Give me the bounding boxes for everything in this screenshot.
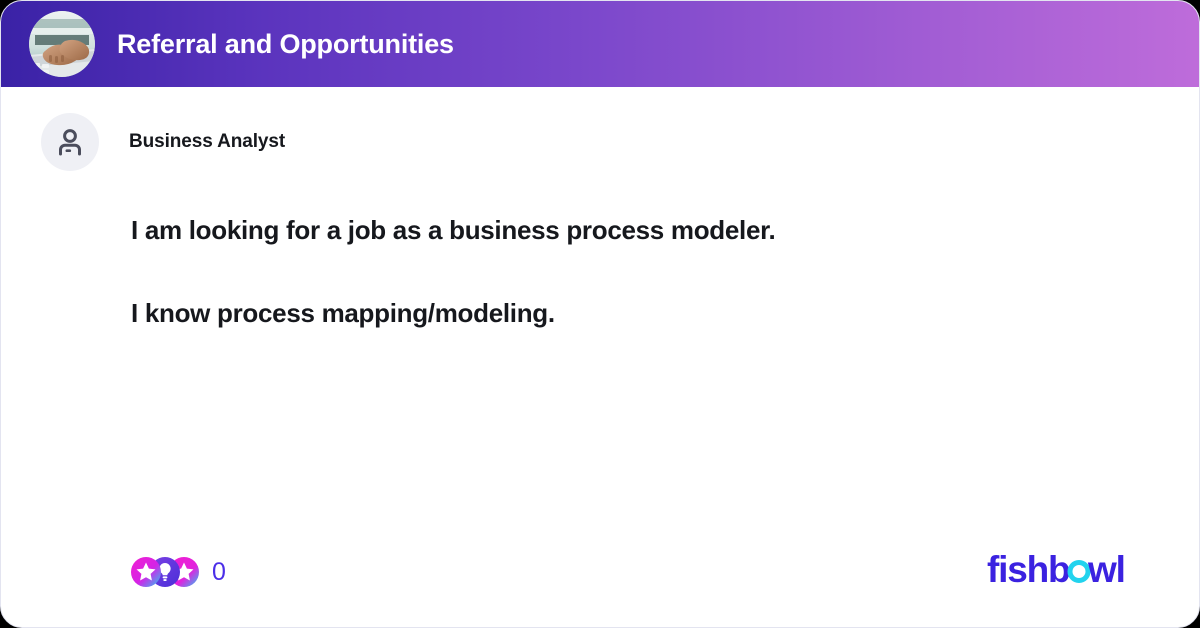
reaction-count: 0 bbox=[212, 560, 226, 585]
star-reaction-icon[interactable] bbox=[131, 557, 161, 587]
post-author-name: Business Analyst bbox=[129, 131, 285, 153]
hands-typing-on-laptop-photo bbox=[29, 11, 95, 77]
post-footer: 0 fishb wl bbox=[1, 549, 1199, 595]
post-paragraph: I know process mapping/modeling. bbox=[131, 296, 1129, 331]
post-card: Referral and Opportunities Business Anal… bbox=[0, 0, 1200, 628]
reactions-group[interactable]: 0 bbox=[131, 557, 226, 587]
anonymous-user-icon bbox=[54, 126, 86, 158]
group-avatar[interactable] bbox=[29, 11, 95, 77]
svg-text:fishb: fishb bbox=[987, 550, 1070, 590]
fishbowl-logo: fishb wl bbox=[987, 550, 1127, 594]
post-author-row: Business Analyst bbox=[1, 87, 1199, 171]
post-text: I am looking for a job as a business pro… bbox=[1, 171, 1199, 331]
avatar[interactable] bbox=[41, 113, 99, 171]
post-body-area: Business Analyst I am looking for a job … bbox=[1, 87, 1199, 628]
post-paragraph: I am looking for a job as a business pro… bbox=[131, 213, 1129, 248]
svg-text:wl: wl bbox=[1087, 550, 1125, 590]
group-header: Referral and Opportunities bbox=[1, 1, 1199, 87]
group-title: Referral and Opportunities bbox=[117, 29, 454, 60]
reaction-icon-stack[interactable] bbox=[131, 557, 188, 587]
